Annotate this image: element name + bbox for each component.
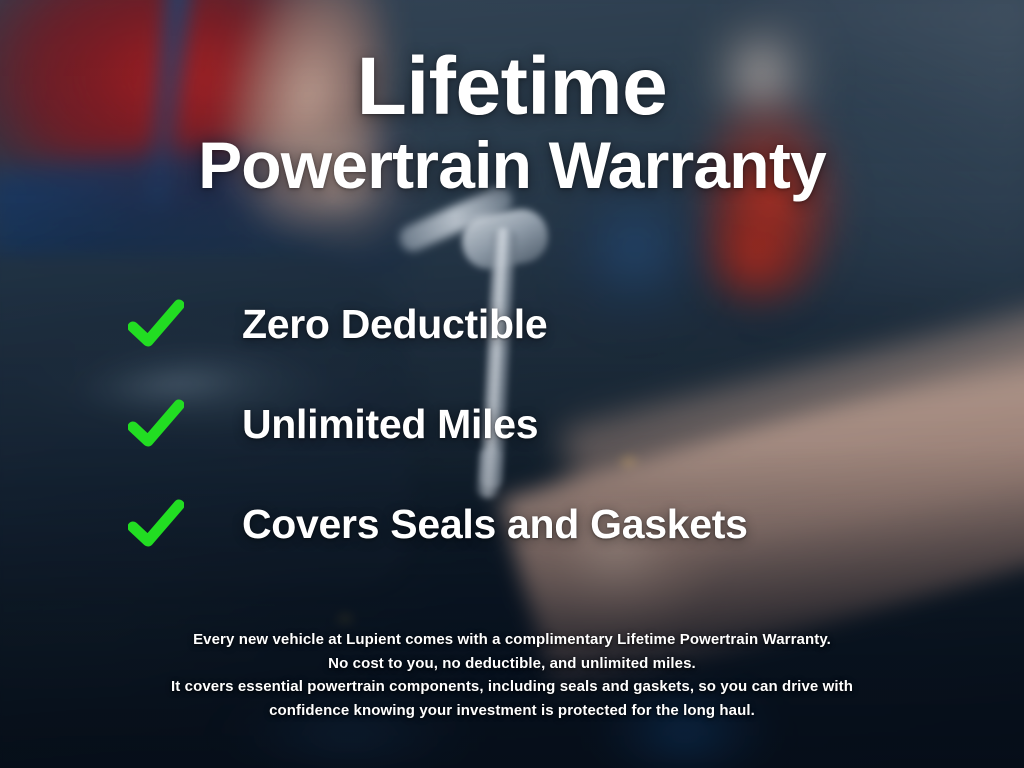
body-copy-line-3: It covers essential powertrain component… xyxy=(0,675,1024,699)
body-copy-line-2: No cost to you, no deductible, and unlim… xyxy=(0,652,1024,676)
feature-label: Covers Seals and Gaskets xyxy=(242,501,748,548)
check-icon xyxy=(128,399,184,449)
body-copy-line-4: confidence knowing your investment is pr… xyxy=(0,699,1024,723)
check-icon xyxy=(128,299,184,349)
page-title: Lifetime Powertrain Warranty xyxy=(0,46,1024,199)
headline-line-1: Lifetime xyxy=(0,46,1024,127)
feature-label: Zero Deductible xyxy=(242,301,547,348)
list-item: Unlimited Miles xyxy=(128,392,948,456)
warranty-promo-banner: Lifetime Powertrain Warranty Zero Deduct… xyxy=(0,0,1024,768)
list-item: Zero Deductible xyxy=(128,292,948,356)
check-icon xyxy=(128,499,184,549)
feature-list: Zero Deductible Unlimited Miles Covers S… xyxy=(128,292,948,592)
body-copy-line-1: Every new vehicle at Lupient comes with … xyxy=(0,628,1024,652)
body-copy: Every new vehicle at Lupient comes with … xyxy=(0,628,1024,723)
feature-label: Unlimited Miles xyxy=(242,401,538,448)
list-item: Covers Seals and Gaskets xyxy=(128,492,948,556)
banner-content: Lifetime Powertrain Warranty Zero Deduct… xyxy=(0,0,1024,768)
headline-line-2: Powertrain Warranty xyxy=(0,133,1024,198)
